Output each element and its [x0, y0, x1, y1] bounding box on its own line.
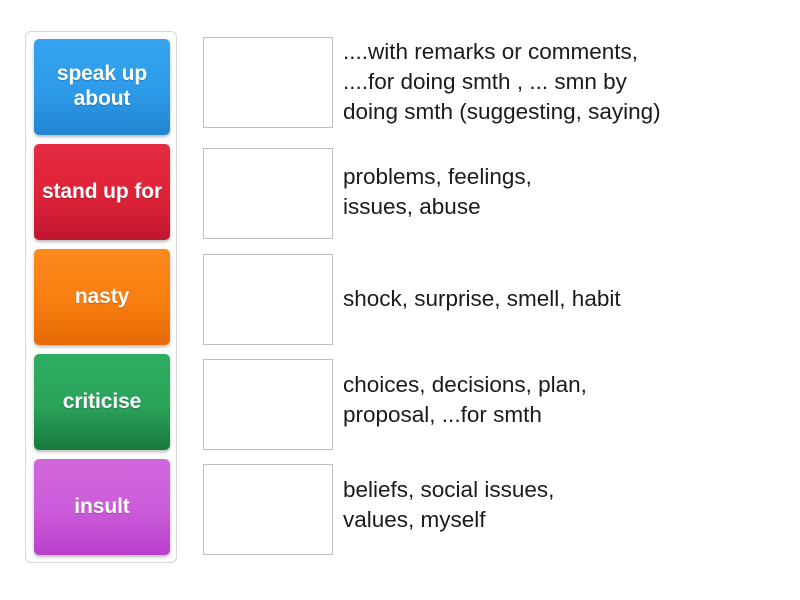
tile-label: nasty — [75, 285, 129, 310]
draggable-tile-criticise[interactable]: criticise — [34, 354, 170, 450]
draggable-tile-stand-up-for[interactable]: stand up for — [34, 144, 170, 240]
tile-label: criticise — [63, 390, 142, 415]
prompt-text-row-5: beliefs, social issues, values, myself — [343, 475, 789, 535]
dropbox-row-5[interactable] — [203, 464, 333, 555]
prompt-text-row-2: problems, feelings, issues, abuse — [343, 162, 789, 222]
tile-label: stand up for — [42, 180, 162, 205]
dropbox-row-4[interactable] — [203, 359, 333, 450]
draggable-tile-panel: speak up about stand up for nasty critic… — [25, 31, 177, 563]
prompt-text-row-4: choices, decisions, plan, proposal, ...f… — [343, 370, 789, 430]
tile-label: speak up about — [40, 62, 164, 112]
prompt-text-row-1: ....with remarks or comments, ....for do… — [343, 37, 789, 127]
tile-label: insult — [74, 495, 129, 520]
prompt-text-row-3: shock, surprise, smell, habit — [343, 284, 789, 314]
dropbox-row-2[interactable] — [203, 148, 333, 239]
dropbox-row-1[interactable] — [203, 37, 333, 128]
dropbox-row-3[interactable] — [203, 254, 333, 345]
match-up-activity: speak up about stand up for nasty critic… — [0, 0, 800, 600]
draggable-tile-insult[interactable]: insult — [34, 459, 170, 555]
draggable-tile-speak-up-about[interactable]: speak up about — [34, 39, 170, 135]
draggable-tile-nasty[interactable]: nasty — [34, 249, 170, 345]
